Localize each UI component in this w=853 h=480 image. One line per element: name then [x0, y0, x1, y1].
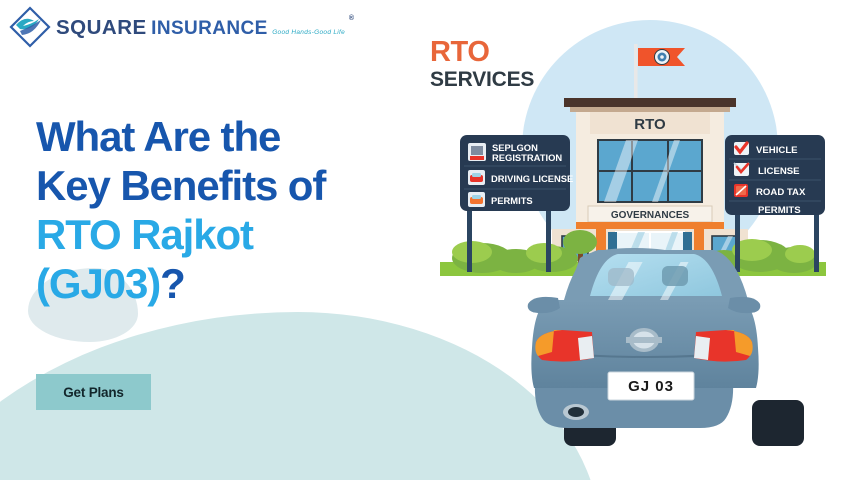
- building-roof: [564, 98, 736, 107]
- headline-line-2: Key Benefits of: [36, 161, 325, 210]
- car-wheel-right: [752, 400, 804, 446]
- flag-pole: [634, 44, 638, 106]
- page-title: What Are the Key Benefits of RTO Rajkot …: [36, 112, 325, 309]
- car-taillight-left: [535, 330, 594, 362]
- check-tick-icon-0: [734, 142, 749, 155]
- left-board-row-0-line2: REGISTRATION: [492, 152, 562, 163]
- left-board-row-1-label: DRIVING LICENSE: [491, 173, 573, 184]
- right-board-row-0-label: VEHICLE: [756, 145, 798, 156]
- banner-root: SQUARE ® INSURANCE Good Hands-Good Life …: [0, 0, 853, 480]
- headline-question-mark: ?: [160, 260, 185, 307]
- illustration-title-primary: RTO: [430, 38, 534, 67]
- headline-line-4: (GJ03)?: [36, 259, 325, 308]
- brand-logo[interactable]: SQUARE ® INSURANCE Good Hands-Good Life: [8, 5, 345, 49]
- building-sign-rto: RTO: [634, 116, 666, 133]
- registered-mark: ®: [349, 15, 354, 22]
- decorative-blob-tail: [0, 420, 460, 480]
- left-board-row-2-label: PERMITS: [491, 195, 533, 206]
- illustration-title-secondary: SERVICES: [430, 69, 534, 90]
- right-board-row-2-label: ROAD TAX: [756, 187, 806, 198]
- right-board-row-1-label: LICENSE: [758, 166, 800, 177]
- logo-line1: SQUARE: [56, 16, 147, 39]
- logo-line2: INSURANCE: [151, 18, 268, 39]
- car-mirror-right: [728, 297, 760, 313]
- illustration-title: RTO SERVICES: [430, 38, 534, 90]
- car-mirror-left: [528, 297, 560, 313]
- car-rear-view: GJ 03: [528, 248, 804, 446]
- car-plate-text: GJ 03: [628, 378, 674, 395]
- building-banner-governances: GOVERNANCES: [611, 210, 690, 221]
- logo-tagline: Good Hands-Good Life: [272, 29, 345, 36]
- square-diamond-wave-logo-icon: [8, 5, 52, 49]
- headline-line-3: RTO Rajkot: [36, 210, 325, 259]
- right-board-row-3-label: PERMITS: [758, 205, 801, 216]
- get-plans-button[interactable]: Get Plans: [36, 374, 151, 410]
- rto-illustration: RTO SERVICES: [412, 0, 853, 480]
- headline-line-4-text: (GJ03): [36, 260, 160, 307]
- check-tick-icon-1: [734, 163, 749, 176]
- headline-line-1: What Are the: [36, 112, 325, 161]
- check-tick-icon-2: [734, 184, 748, 197]
- car-taillight-right: [694, 330, 753, 362]
